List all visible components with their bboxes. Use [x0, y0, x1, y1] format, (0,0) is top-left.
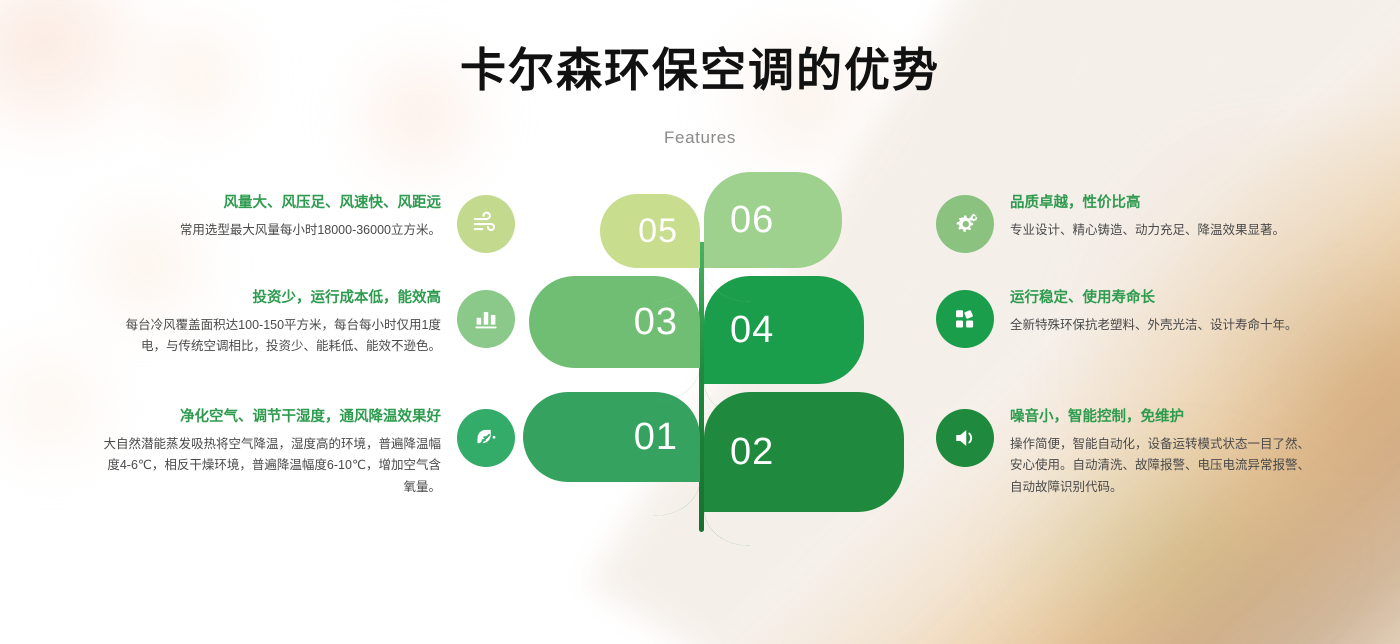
four-squares-icon — [936, 290, 994, 348]
leaf-number: 05 — [638, 212, 678, 251]
leaf-tail — [654, 480, 700, 516]
page-subtitle: Features — [0, 128, 1400, 148]
feature-text-block: 风量大、风压足、风速快、风距远 常用选型最大风量每小时18000-36000立方… — [110, 193, 441, 241]
feature-item-03[interactable]: 投资少，运行成本低，能效高 每台冷风覆盖面积达100-150平方米，每台每小时仅… — [110, 288, 515, 358]
feature-description: 常用选型最大风量每小时18000-36000立方米。 — [110, 220, 441, 242]
features-infographic: 卡尔森环保空调的优势 Features 风量大、风压足、风速快、风距远 常用选型… — [0, 0, 1400, 644]
feature-text-block: 净化空气、调节干湿度，通风降温效果好 大自然潜能蒸发吸热将空气降温，湿度高的环境… — [100, 407, 441, 498]
leaf-number: 03 — [634, 301, 678, 344]
leaf-tree-diagram: 05 06 03 04 01 02 — [505, 172, 895, 552]
feature-title: 投资少，运行成本低，能效高 — [110, 288, 441, 310]
feature-item-04[interactable]: 运行稳定、使用寿命长 全新特殊环保抗老塑料、外壳光洁、设计寿命十年。 — [936, 288, 1336, 348]
feature-description: 每台冷风覆盖面积达100-150平方米，每台每小时仅用1度电，与传统空调相比，投… — [110, 315, 441, 358]
feature-item-02[interactable]: 噪音小，智能控制，免维护 操作简便，智能自动化，设备运转模式状态一目了然、安心使… — [936, 407, 1311, 498]
feature-item-05[interactable]: 风量大、风压足、风速快、风距远 常用选型最大风量每小时18000-36000立方… — [110, 193, 515, 253]
feature-text-block: 投资少，运行成本低，能效高 每台冷风覆盖面积达100-150平方米，每台每小时仅… — [110, 288, 441, 358]
feature-title: 风量大、风压足、风速快、风距远 — [110, 193, 441, 215]
leaf-number: 02 — [730, 431, 774, 474]
leaf-tail — [704, 510, 750, 546]
feature-text-block: 噪音小，智能控制，免维护 操作简便，智能自动化，设备运转模式状态一目了然、安心使… — [1010, 407, 1311, 498]
leaf-number: 04 — [730, 309, 774, 352]
feature-description: 操作简便，智能自动化，设备运转模式状态一目了然、安心使用。自动清洗、故障报警、电… — [1010, 434, 1311, 499]
leaf-badge-01[interactable]: 01 — [523, 392, 700, 482]
feature-title: 净化空气、调节干湿度，通风降温效果好 — [100, 407, 441, 429]
leaf-badge-06[interactable]: 06 — [704, 172, 842, 268]
feature-title: 运行稳定、使用寿命长 — [1010, 288, 1336, 310]
feature-title: 噪音小，智能控制，免维护 — [1010, 407, 1311, 429]
feature-description: 专业设计、精心铸造、动力充足、降温效果显著。 — [1010, 220, 1336, 242]
gears-icon — [936, 195, 994, 253]
feature-item-01[interactable]: 净化空气、调节干湿度，通风降温效果好 大自然潜能蒸发吸热将空气降温，湿度高的环境… — [100, 407, 515, 498]
leaf-tail — [654, 266, 700, 302]
leaf-number: 01 — [634, 416, 678, 459]
leaf-number: 06 — [730, 199, 774, 242]
leaf-badge-05[interactable]: 05 — [600, 194, 700, 268]
feature-description: 大自然潜能蒸发吸热将空气降温，湿度高的环境，普遍降温幅度4-6℃，相反干燥环境，… — [100, 434, 441, 499]
speaker-icon — [936, 409, 994, 467]
page-title: 卡尔森环保空调的优势 — [0, 44, 1400, 97]
feature-text-block: 品质卓越，性价比高 专业设计、精心铸造、动力充足、降温效果显著。 — [1010, 193, 1336, 241]
feature-title: 品质卓越，性价比高 — [1010, 193, 1336, 215]
feature-text-block: 运行稳定、使用寿命长 全新特殊环保抗老塑料、外壳光洁、设计寿命十年。 — [1010, 288, 1336, 336]
leaf-tail — [654, 366, 700, 402]
feature-item-06[interactable]: 品质卓越，性价比高 专业设计、精心铸造、动力充足、降温效果显著。 — [936, 193, 1336, 253]
feature-description: 全新特殊环保抗老塑料、外壳光洁、设计寿命十年。 — [1010, 315, 1336, 337]
